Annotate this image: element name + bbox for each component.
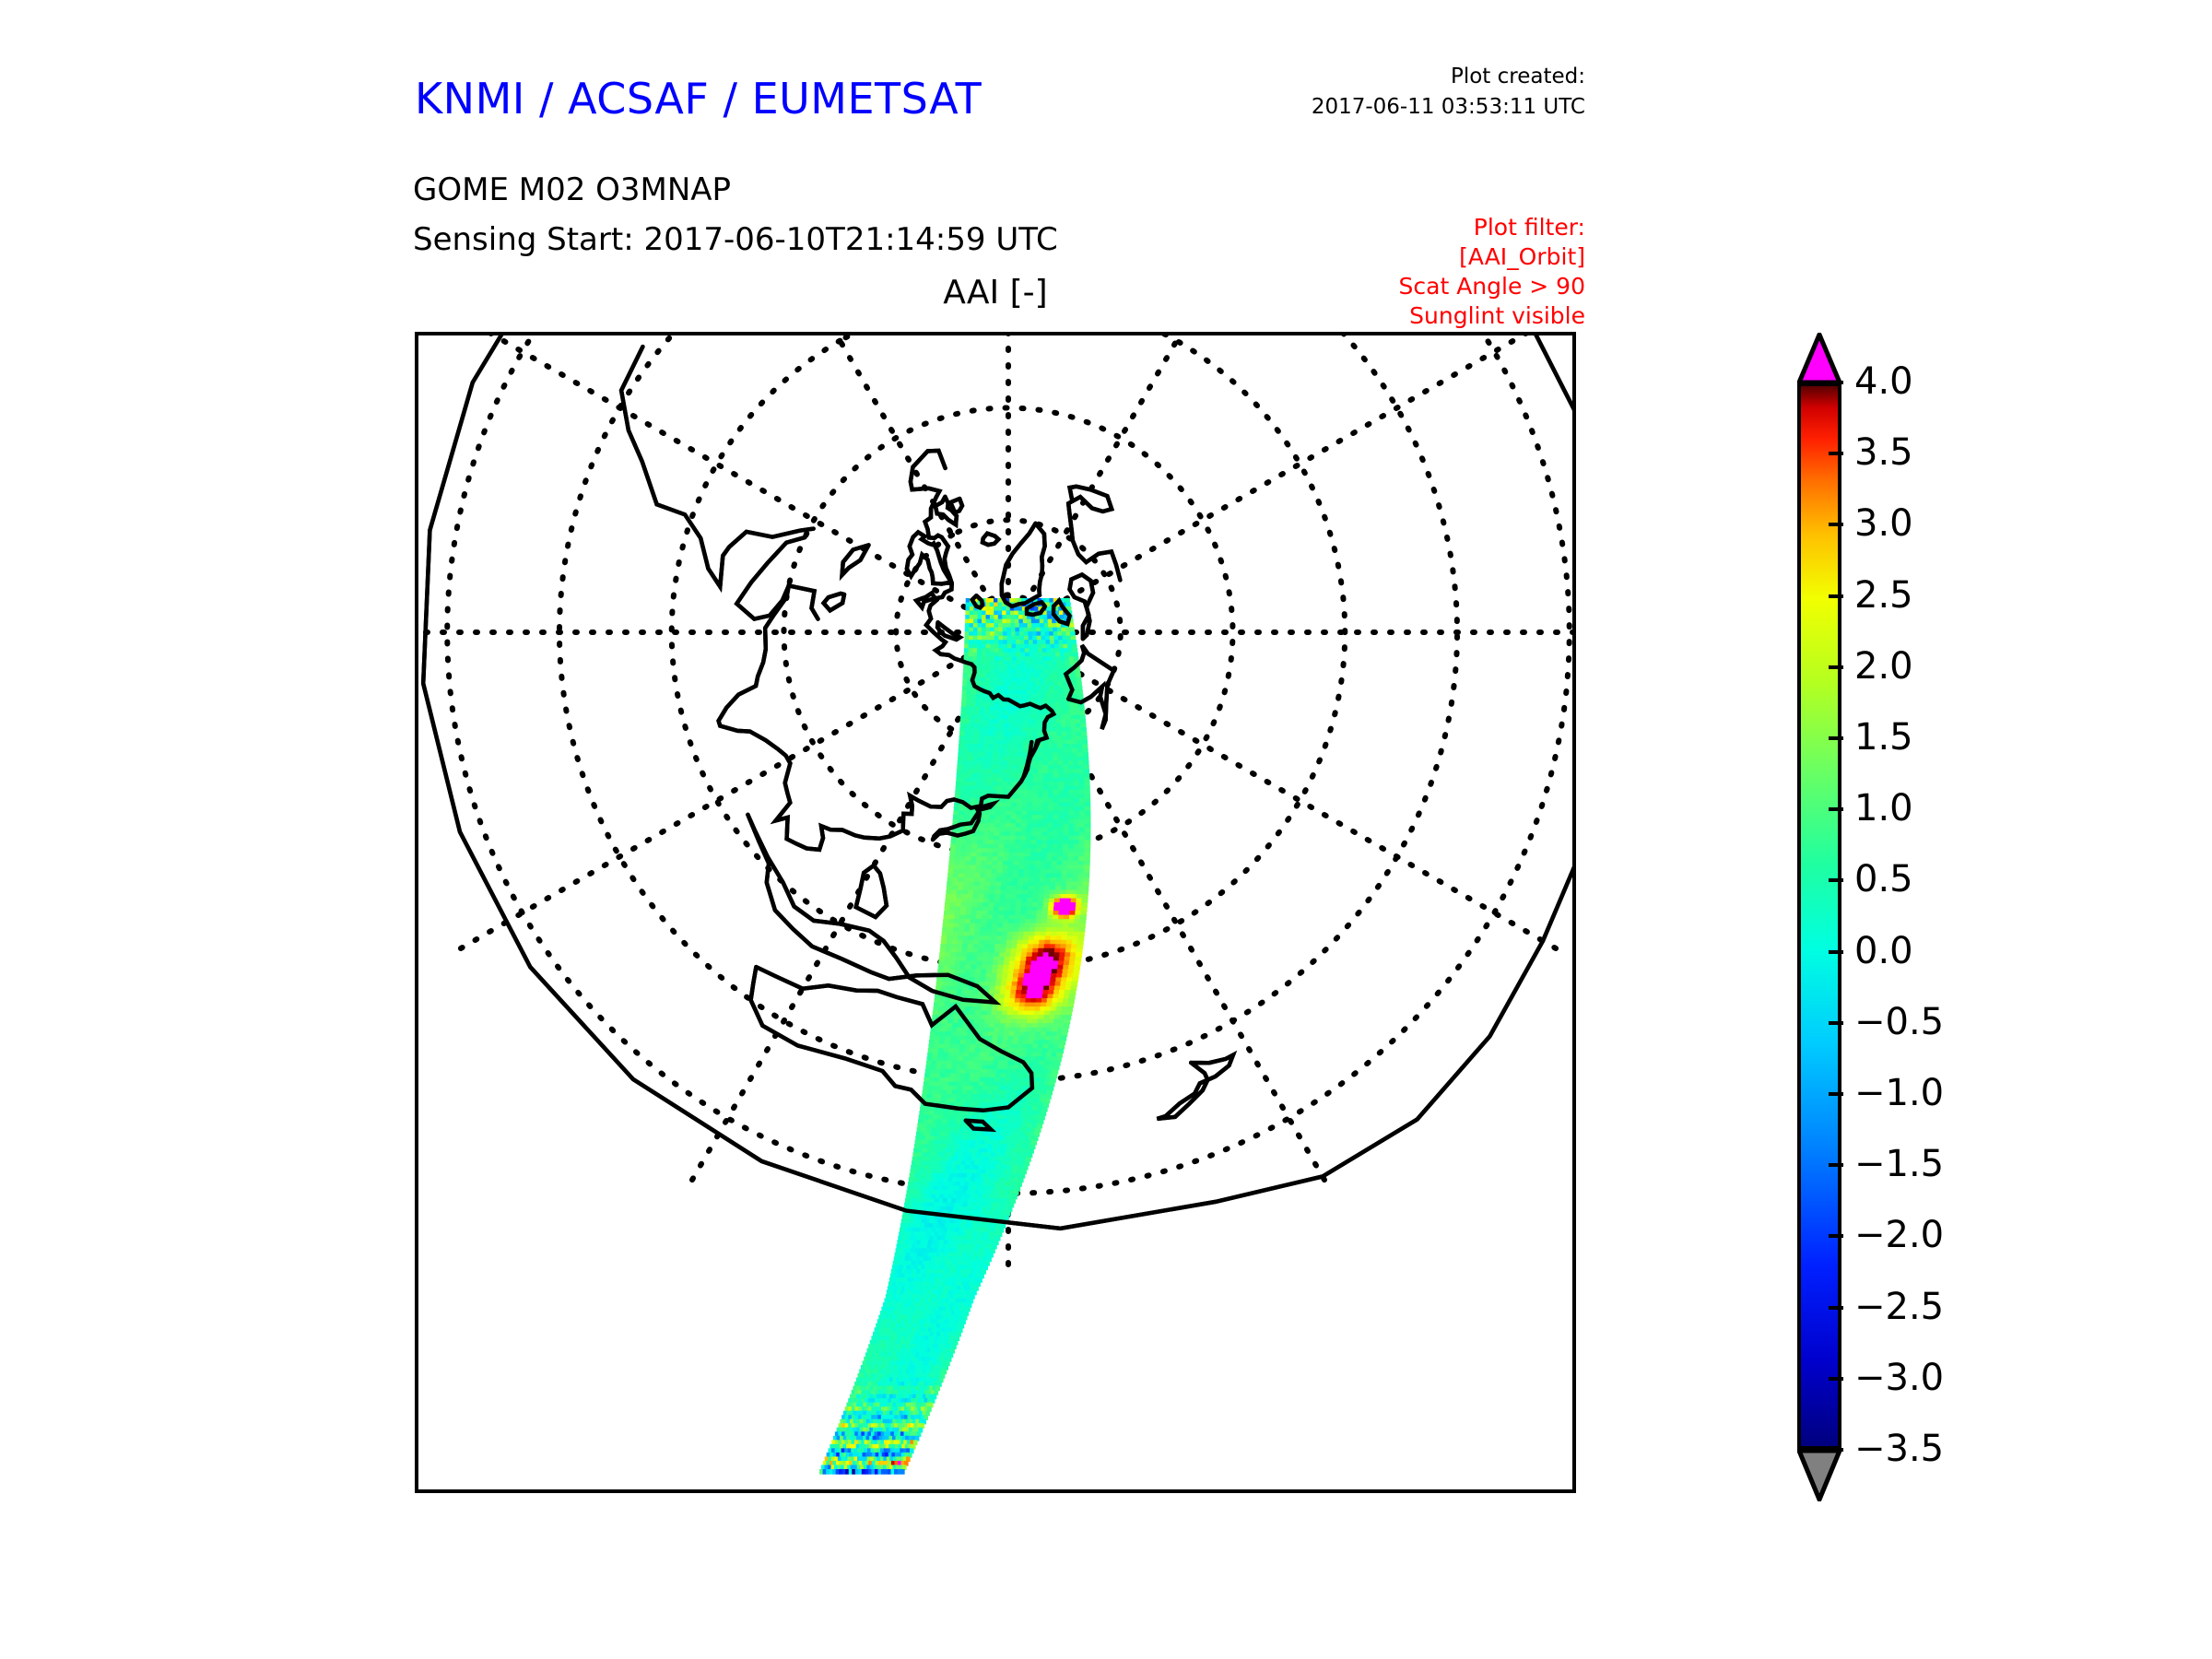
map-plot-area[interactable] — [415, 332, 1576, 1493]
graticule-meridian — [454, 632, 1008, 952]
organisation-title: KNMI / ACSAF / EUMETSAT — [415, 74, 982, 124]
graticule-meridian — [1008, 632, 1562, 952]
satellite-swath-layer — [819, 598, 1090, 1475]
plot-filter-line-3: Sunglint visible — [1180, 302, 1585, 329]
plot-created-label: Plot created: — [1069, 65, 1585, 88]
graticule-meridian — [1008, 335, 1328, 632]
coastline — [736, 537, 805, 619]
plot-created-timestamp: 2017-06-11 03:53:11 UTC — [1069, 95, 1585, 119]
plot-filter-line-0: Plot filter: — [1180, 214, 1585, 241]
graticule-meridian — [454, 335, 1008, 632]
figure-canvas: KNMI / ACSAF / EUMETSAT Plot created: 20… — [0, 0, 2212, 1659]
product-name: GOME M02 O3MNAP — [413, 171, 731, 208]
plot-filter-line-2: Scat Angle > 90 — [1180, 273, 1585, 300]
sensing-start: Sensing Start: 2017-06-10T21:14:59 UTC — [413, 221, 1058, 258]
map-canvas — [418, 335, 1572, 1489]
graticule-meridian — [688, 335, 1008, 632]
plot-filter-line-1: [AAI_Orbit] — [1180, 243, 1585, 270]
